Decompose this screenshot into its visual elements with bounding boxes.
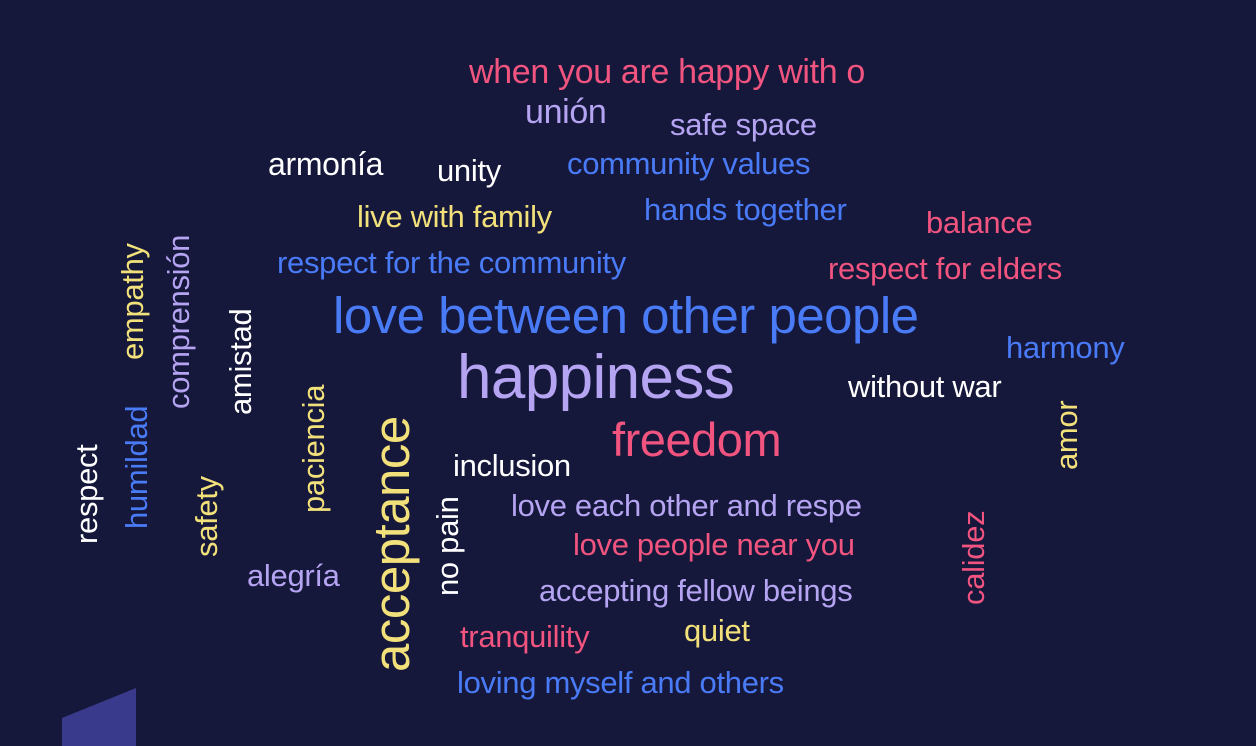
word-cloud-term: happiness — [457, 347, 734, 409]
word-cloud-term: humildad — [121, 406, 152, 529]
word-cloud-term: paciencia — [298, 385, 329, 513]
word-cloud-term: tranquility — [460, 621, 589, 652]
word-cloud-term: amor — [1051, 401, 1082, 470]
word-cloud-term: empathy — [117, 243, 148, 360]
word-cloud-term: safety — [191, 476, 222, 557]
word-cloud-term: respect for elders — [828, 253, 1062, 284]
word-cloud-term: loving myself and others — [457, 667, 784, 698]
word-cloud-term: community values — [567, 148, 810, 179]
word-cloud-term: accepting fellow beings — [539, 575, 852, 606]
word-cloud-term: harmony — [1006, 332, 1124, 363]
word-cloud-term: unity — [437, 155, 501, 186]
word-cloud-term: when you are happy with o — [469, 55, 865, 89]
word-cloud-term: hands together — [644, 194, 847, 225]
word-cloud-term: love people near you — [573, 529, 855, 560]
word-cloud-term: unión — [525, 95, 607, 129]
word-cloud-term: safe space — [670, 109, 817, 140]
word-cloud-term: respect — [71, 445, 102, 545]
word-cloud-term: calidez — [958, 511, 989, 605]
word-cloud-term: quiet — [684, 615, 750, 646]
word-cloud-term: acceptance — [366, 416, 417, 672]
word-cloud-term: balance — [926, 207, 1032, 238]
word-cloud-term: armonía — [268, 148, 383, 180]
word-cloud-term: freedom — [612, 416, 781, 463]
word-cloud-term: respect for the community — [277, 247, 626, 278]
word-cloud-term: love between other people — [333, 290, 919, 341]
word-cloud-canvas: when you are happy with ouniónsafe space… — [0, 0, 1256, 746]
word-cloud-term: no pain — [432, 496, 463, 596]
word-cloud-term: alegría — [247, 560, 340, 591]
word-cloud-term: comprensión — [163, 235, 194, 409]
word-cloud-term: inclusion — [453, 450, 571, 481]
word-cloud-term: without war — [848, 371, 1001, 402]
word-cloud-term: live with family — [357, 201, 552, 232]
word-cloud-term: love each other and respe — [511, 490, 862, 521]
word-cloud-term: amistad — [225, 309, 256, 415]
